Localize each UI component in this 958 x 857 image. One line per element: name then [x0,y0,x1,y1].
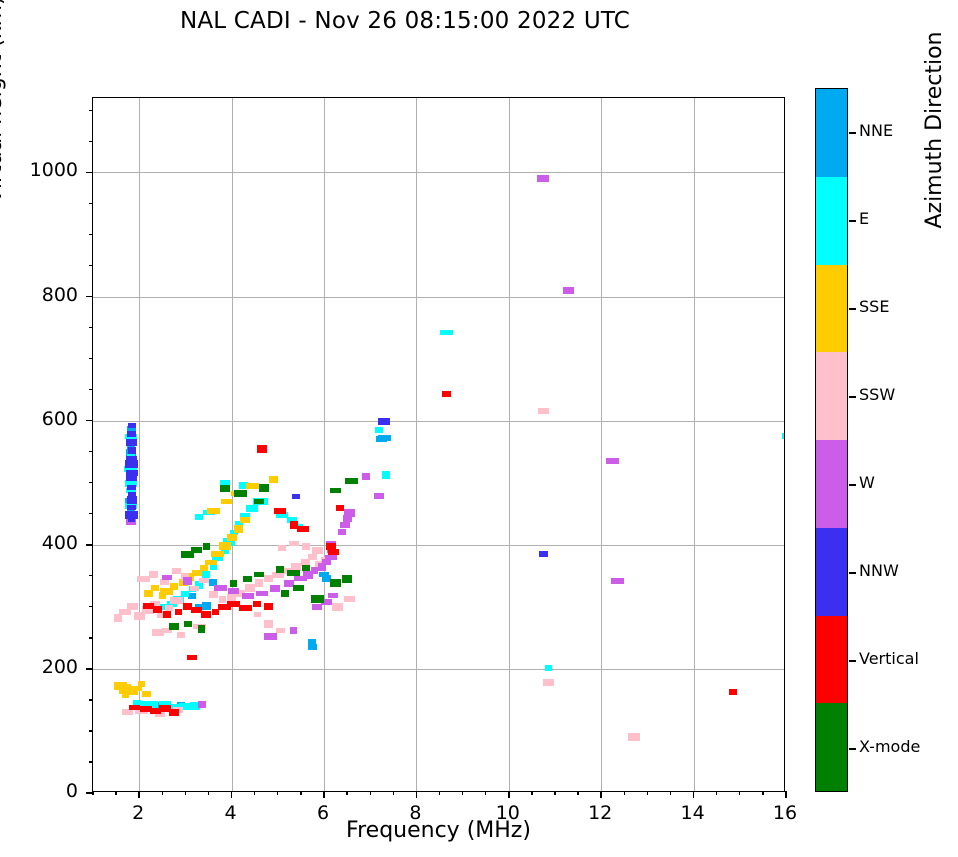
echo-mark [264,620,273,628]
y-tick [86,668,93,670]
echo-mark [374,493,384,499]
echo-mark [246,483,259,489]
x-minor-tick [485,791,486,795]
colorbar-segment-nnw[interactable] [816,528,847,616]
y-minor-tick [89,141,93,142]
echo-mark [259,484,269,492]
echo-mark [308,644,317,650]
echo-mark [378,435,391,441]
echo-mark [209,591,218,598]
echo-mark [127,431,136,437]
echo-mark [239,605,252,611]
echo-mark [276,566,284,573]
echo-mark [227,534,237,541]
y-minor-tick [89,761,93,762]
colorbar-tick [849,396,856,398]
colorbar-segment-vertical[interactable] [816,616,847,704]
echo-mark [563,287,574,294]
echo-mark [184,621,192,627]
echo-mark [281,590,289,597]
echo-mark [126,474,137,481]
echo-mark [203,543,210,550]
colorbar-label-ssw: SSW [859,385,895,404]
colorbar-label-nnw: NNW [859,561,899,580]
echo-mark [330,579,341,587]
x-minor-tick [115,791,116,795]
x-minor-tick [439,791,440,795]
y-tick-label: 800 [0,284,78,306]
colorbar-tick [849,132,856,134]
echo-mark [338,529,346,535]
echo-mark [289,541,299,546]
echo-mark [328,549,339,555]
echo-mark [163,611,171,618]
echo-mark [375,427,383,433]
x-minor-tick [393,791,394,795]
echo-mark [125,460,138,468]
y-minor-tick [89,730,93,731]
colorbar-segment-x-mode[interactable] [816,703,847,791]
echo-mark [127,603,138,610]
x-tick [508,791,510,798]
echo-mark [782,433,785,439]
echo-mark [270,585,280,592]
y-minor-tick [89,575,93,576]
echo-mark [220,485,230,492]
echo-mark [138,681,145,687]
y-minor-tick [89,482,93,483]
echo-mark [228,588,239,594]
echo-mark [245,584,255,592]
echo-mark [142,691,151,697]
echo-mark [126,439,137,446]
echo-mark [201,611,211,618]
x-minor-tick [300,791,301,795]
echo-mark [128,423,136,428]
echo-mark [537,175,549,182]
echo-mark [340,522,350,528]
x-minor-tick [254,791,255,795]
echo-mark [264,603,273,610]
echo-mark [264,633,277,640]
colorbar-tick [849,308,856,310]
y-minor-tick [89,699,93,700]
echo-mark [442,391,451,397]
x-minor-tick [92,791,93,795]
echo-mark [169,709,179,716]
echo-mark [611,578,624,584]
echo-mark [128,447,136,454]
echo-mark [190,586,199,591]
echo-mark [332,603,343,611]
echo-mark [539,551,548,557]
echo-mark [253,601,261,607]
x-minor-tick [346,791,347,795]
x-minor-tick [185,791,186,795]
echo-mark [312,604,322,610]
x-tick [693,791,695,798]
echo-mark [302,543,310,550]
data-layer [93,98,784,791]
echo-mark [606,458,619,464]
y-minor-tick [89,110,93,111]
page-title: NAL CADI - Nov 26 08:15:00 2022 UTC [0,8,810,34]
x-minor-tick [624,791,625,795]
echo-mark [243,576,252,582]
x-minor-tick [554,791,555,795]
colorbar-segment-ssw[interactable] [816,352,847,440]
echo-mark [287,570,300,576]
echo-mark [345,478,358,484]
echo-mark [211,551,224,557]
x-minor-tick [370,791,371,795]
echo-mark [292,494,300,499]
echo-mark [202,602,211,610]
echo-mark [322,559,331,565]
echo-mark [302,565,310,571]
x-minor-tick [162,791,163,795]
colorbar-tick [849,220,856,222]
echo-mark [230,580,237,587]
echo-mark [151,585,159,591]
echo-mark [202,571,210,578]
echo-mark [198,625,205,633]
x-minor-tick [462,791,463,795]
echo-mark [336,505,344,511]
echo-mark [256,591,268,596]
colorbar-tick [849,748,856,750]
colorbar-tick [849,660,856,662]
echo-mark [255,579,263,587]
echo-mark [254,612,261,617]
echo-mark [254,572,264,577]
x-minor-tick [531,791,532,795]
x-tick [600,791,602,798]
x-tick [785,791,787,798]
y-minor-tick [89,389,93,390]
x-minor-tick [670,791,671,795]
y-tick [86,420,93,422]
echo-mark [325,555,337,560]
echo-mark [198,701,206,708]
echo-mark [128,516,135,522]
y-minor-tick [89,451,93,452]
x-tick [231,791,233,798]
y-minor-tick [89,513,93,514]
x-tick [138,791,140,798]
echo-mark [214,585,227,591]
echo-mark [628,733,640,741]
echo-mark [311,595,324,603]
y-minor-tick [89,234,93,235]
colorbar-tick [849,572,856,574]
echo-mark [293,585,304,591]
y-axis-label: Virtual height (km) [0,0,7,270]
echo-mark [199,578,209,583]
x-minor-tick [716,791,717,795]
y-minor-tick [89,637,93,638]
echo-mark [312,547,323,554]
colorbar-segment-sse[interactable] [816,265,847,353]
colorbar-label-e: E [859,209,869,228]
echo-mark [234,525,243,533]
x-tick [416,791,418,798]
echo-mark [278,545,286,551]
echo-mark [240,517,250,523]
echo-mark [344,509,355,517]
echo-mark [545,665,552,671]
y-tick-label: 600 [0,408,78,430]
x-tick [323,791,325,798]
echo-mark [246,505,258,512]
y-minor-tick [89,265,93,266]
echo-mark [175,609,182,615]
echo-mark [378,418,390,425]
echo-mark [187,655,197,660]
colorbar[interactable] [815,88,848,792]
y-minor-tick [89,606,93,607]
echo-mark [219,542,231,550]
echo-mark [290,627,297,634]
y-tick-label: 400 [0,532,78,554]
y-tick [86,544,93,546]
echo-mark [330,488,341,493]
colorbar-segment-nne[interactable] [816,89,847,177]
y-minor-tick [89,203,93,204]
echo-mark [382,471,390,479]
echo-mark [153,606,162,613]
echo-mark [170,597,183,604]
echo-mark [127,505,136,510]
ionogram-figure: NAL CADI - Nov 26 08:15:00 2022 UTC 0200… [0,0,958,857]
echo-mark [129,705,140,710]
echo-mark [328,593,338,598]
echo-mark [257,445,267,453]
colorbar-label-nne: NNE [859,121,893,140]
y-minor-tick [89,358,93,359]
echo-mark [188,593,196,599]
colorbar-tick [849,484,856,486]
y-tick [86,296,93,298]
echo-mark [200,565,208,571]
echo-mark [254,499,264,504]
echo-mark [207,508,220,514]
x-minor-tick [577,791,578,795]
echo-mark [172,568,181,574]
echo-mark [729,689,737,695]
x-minor-tick [762,791,763,795]
echo-mark [344,596,355,602]
colorbar-title: Azimuth Direction [922,0,947,330]
echo-mark [149,571,158,578]
colorbar-label-sse: SSE [859,297,889,316]
y-tick-label: 200 [0,656,78,678]
x-minor-tick [277,791,278,795]
echo-mark [274,508,286,514]
echo-mark [127,496,137,504]
y-tick [86,172,93,174]
echo-mark [342,575,352,583]
echo-mark [127,485,136,490]
echo-mark [170,583,178,590]
echo-mark [440,330,453,335]
colorbar-label-w: W [859,473,875,492]
echo-mark [269,476,278,483]
x-axis-label: Frequency (MHz) [92,818,785,843]
x-minor-tick [647,791,648,795]
y-tick-label: 0 [0,780,78,802]
echo-mark [162,575,172,580]
echo-mark [114,614,122,622]
echo-mark [177,632,185,638]
echo-mark [160,579,169,585]
colorbar-segment-e[interactable] [816,177,847,265]
colorbar-segment-w[interactable] [816,440,847,528]
echo-mark [308,554,317,560]
echo-mark [169,623,179,630]
echo-mark [234,490,247,497]
colorbar-label-x-mode: X-mode [859,737,920,756]
colorbar-label-vertical: Vertical [859,649,919,668]
echo-mark [362,473,370,480]
x-minor-tick [208,791,209,795]
echo-mark [122,709,133,715]
echo-mark [205,560,217,565]
x-minor-tick [739,791,740,795]
echo-mark [543,679,554,686]
plot-area [92,97,785,792]
echo-mark [219,596,226,603]
echo-mark [191,547,202,553]
echo-mark [538,408,549,414]
y-tick-label: 1000 [0,159,78,181]
echo-mark [297,526,309,532]
echo-mark [242,593,254,599]
echo-mark [221,499,232,504]
y-minor-tick [89,327,93,328]
echo-mark [183,577,192,585]
